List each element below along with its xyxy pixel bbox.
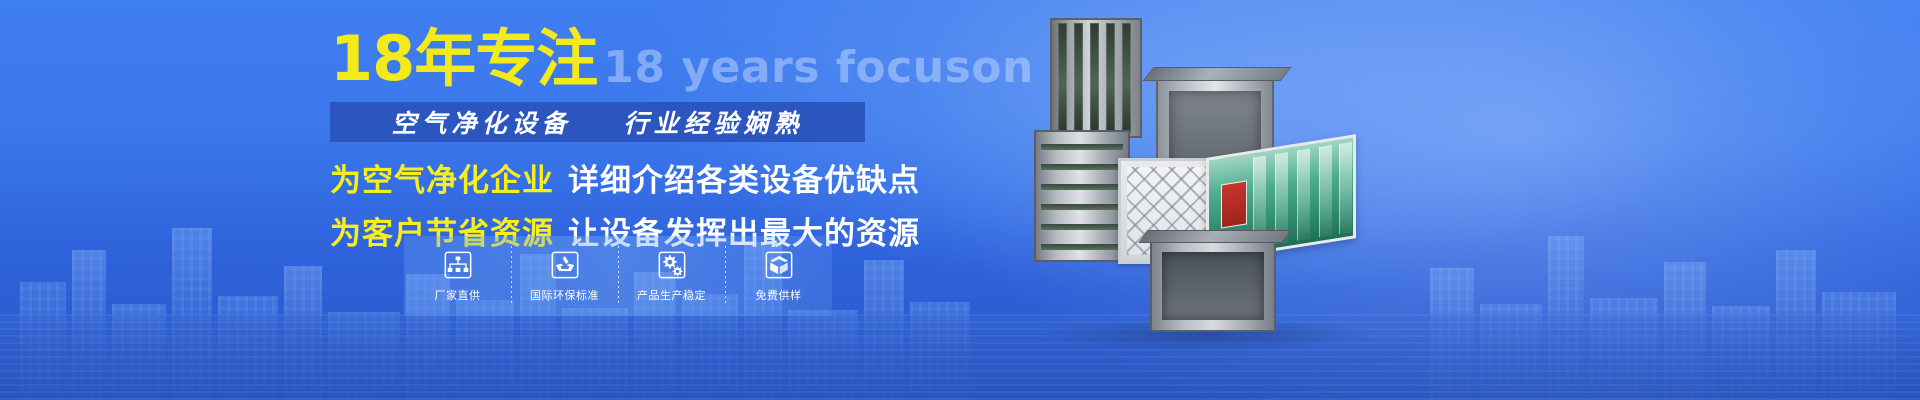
ribbon-text-left: 空气净化设备 [391, 104, 571, 140]
feature-label: 产品生产稳定 [637, 287, 706, 303]
tagline-ribbon: 空气净化设备 行业经验娴熟 [330, 102, 865, 142]
grey-housing-product [1150, 240, 1276, 332]
feature-item-free-sample[interactable]: 免费供样 [725, 236, 832, 316]
subline-1: 为空气净化企业详细介绍各类设备优缺点 [330, 155, 930, 200]
metal-frame-filter-product [1034, 130, 1130, 262]
main-headline: 18年专注 18 years focuson [330, 18, 930, 90]
org-chart-icon [443, 250, 473, 280]
subline-1-highlight: 为空气净化企业 [330, 163, 554, 199]
product-image-cluster [1010, 18, 1400, 348]
feature-item-factory-direct[interactable]: 厂家直供 [404, 236, 511, 316]
feature-item-eco-standard[interactable]: 国际环保标准 [511, 236, 618, 316]
feature-label: 免费供样 [756, 287, 802, 303]
product-brand-tag [1221, 180, 1247, 228]
feature-item-stable-production[interactable]: 产品生产稳定 [618, 236, 725, 316]
feature-label: 厂家直供 [435, 287, 481, 303]
ribbon-text-right: 行业经验娴熟 [624, 104, 804, 140]
feature-strip: 厂家直供 国际环保标准 [404, 236, 832, 316]
headline-english: 18 years focuson [603, 46, 1034, 90]
feature-label: 国际环保标准 [530, 287, 599, 303]
promo-banner: 18年专注 18 years focuson 空气净化设备 行业经验娴熟 为空气… [0, 0, 1920, 400]
headline-block: 18年专注 18 years focuson 空气净化设备 行业经验娴熟 为空气… [330, 18, 930, 253]
headline-chinese: 18年专注 [330, 28, 597, 90]
waterfront [0, 314, 1920, 400]
recycle-icon [550, 250, 580, 280]
open-box-icon [764, 250, 794, 280]
subline-1-rest: 详细介绍各类设备优缺点 [568, 163, 920, 199]
gears-icon [657, 250, 687, 280]
city-skyline-backdrop [0, 165, 1920, 400]
v-bank-filter-product [1050, 18, 1142, 138]
